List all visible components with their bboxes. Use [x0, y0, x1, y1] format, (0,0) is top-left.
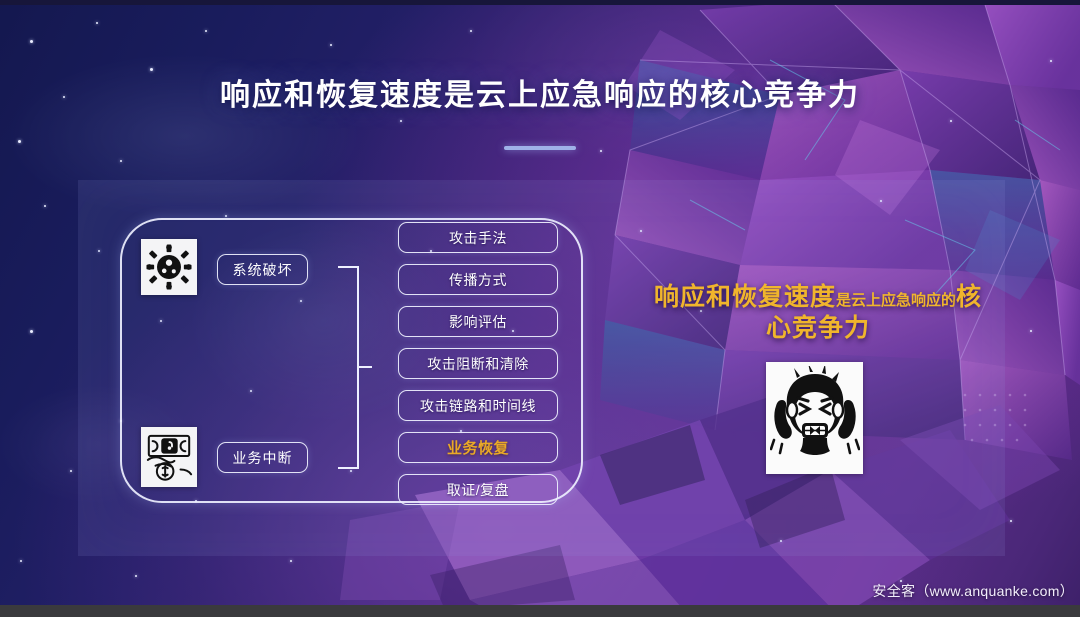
step-pill[interactable]: 传播方式 — [398, 264, 558, 295]
bottom-letterbox-band — [0, 605, 1080, 617]
step-label: 取证/复盘 — [447, 480, 509, 500]
title-divider — [504, 146, 576, 150]
site-watermark: 安全客（www.anquanke.com） — [872, 581, 1074, 601]
step-pill[interactable]: 攻击链路和时间线 — [398, 390, 558, 421]
step-label: 攻击链路和时间线 — [420, 396, 536, 416]
category-pill-system-damage[interactable]: 系统破坏 — [217, 254, 308, 285]
virus-icon-tile — [141, 239, 197, 295]
callout-line-1: 响应和恢复速度是云上应急响应的核 — [648, 282, 988, 313]
ransom-money-icon — [144, 431, 194, 483]
virus-icon — [146, 244, 192, 290]
frustrated-face-icon — [770, 366, 860, 470]
step-pill-highlighted[interactable]: 业务恢复 — [398, 432, 558, 463]
callout-line-2: 心竞争力 — [648, 313, 988, 344]
step-pill-list: 攻击手法 传播方式 影响评估 攻击阻断和清除 攻击链路和时间线 业务恢复 取证/… — [398, 222, 558, 516]
frustrated-face-icon-tile — [766, 362, 863, 474]
top-letterbox-band — [0, 0, 1080, 5]
step-label: 攻击阻断和清除 — [427, 354, 529, 374]
callout-plain: 是云上应急响应的 — [836, 292, 956, 309]
callout-tail: 核 — [956, 283, 982, 311]
step-label: 影响评估 — [449, 312, 507, 332]
category-pill-business-interruption[interactable]: 业务中断 — [217, 442, 308, 473]
step-pill[interactable]: 影响评估 — [398, 306, 558, 337]
slide-title: 响应和恢复速度是云上应急响应的核心竞争力 — [0, 70, 1080, 114]
category-label: 系统破坏 — [233, 260, 293, 280]
step-pill[interactable]: 攻击手法 — [398, 222, 558, 253]
callout-emphasis: 响应和恢复速度 — [654, 283, 836, 311]
callout-text: 响应和恢复速度是云上应急响应的核 心竞争力 — [648, 282, 988, 343]
category-label: 业务中断 — [233, 448, 293, 468]
step-label: 攻击手法 — [449, 228, 507, 248]
step-label: 传播方式 — [449, 270, 507, 290]
step-pill[interactable]: 取证/复盘 — [398, 474, 558, 505]
ransom-money-icon-tile — [141, 427, 197, 487]
step-pill[interactable]: 攻击阻断和清除 — [398, 348, 558, 379]
step-label: 业务恢复 — [447, 437, 509, 458]
bracket-connector — [336, 265, 394, 470]
presentation-slide: 响应和恢复速度是云上应急响应的核心竞争力 — [0, 0, 1080, 617]
